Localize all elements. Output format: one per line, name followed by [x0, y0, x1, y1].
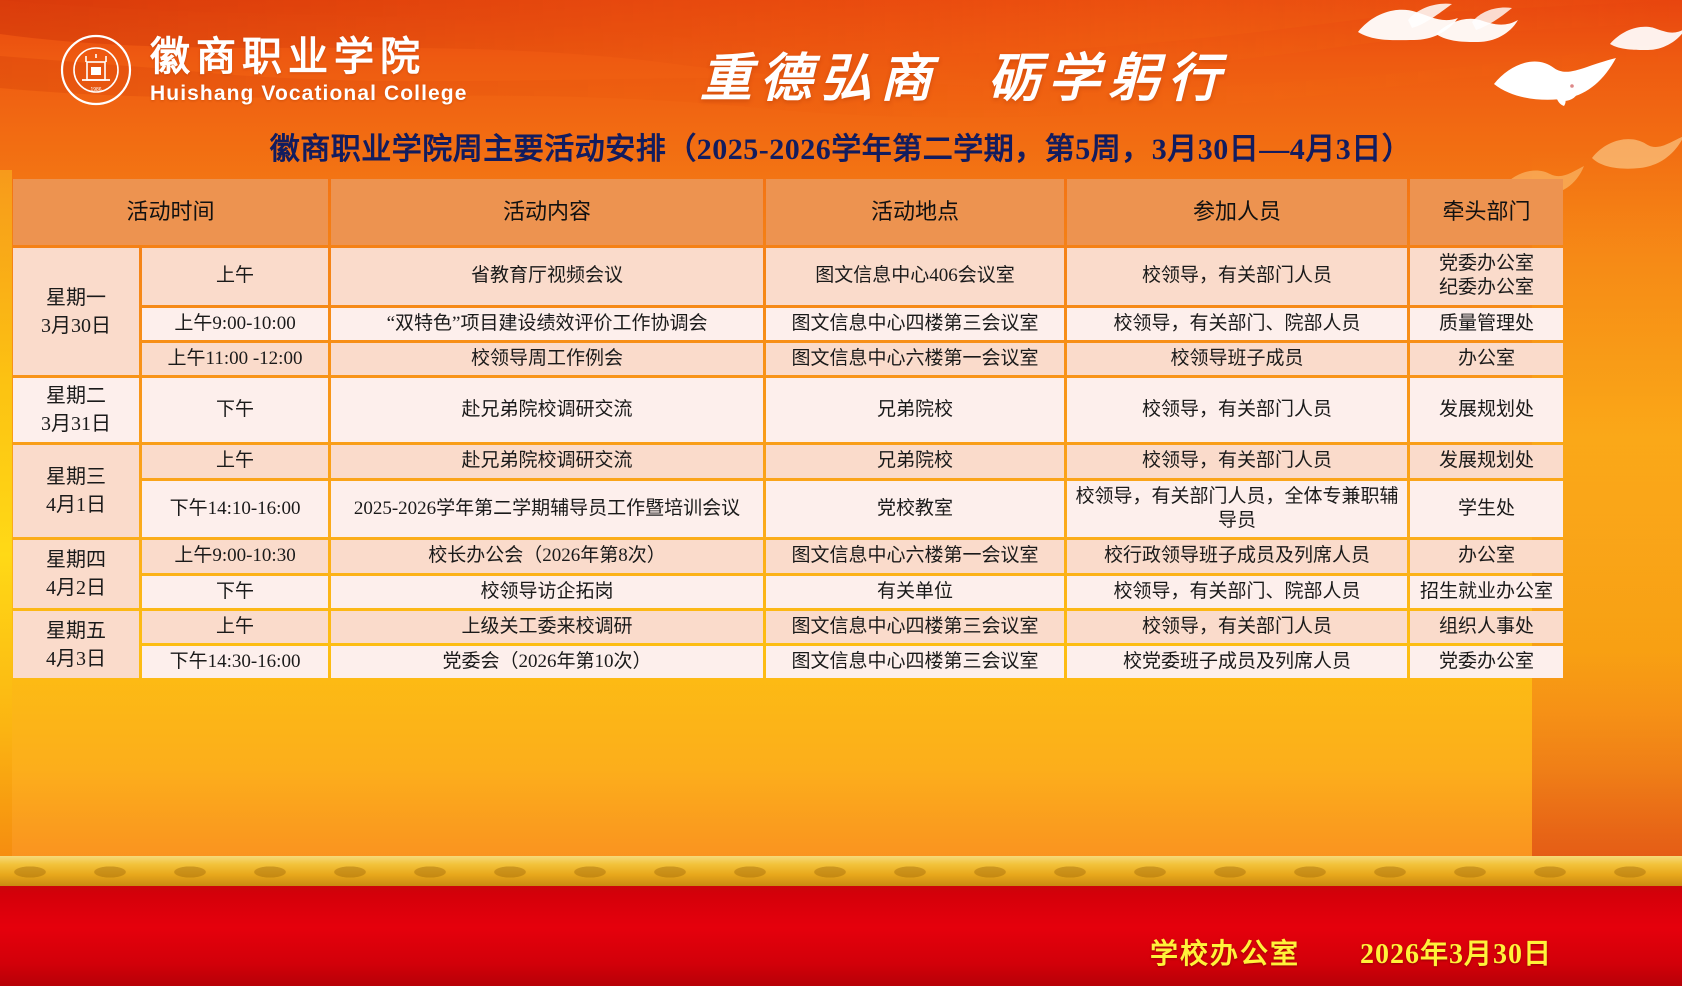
- people-cell: 校领导班子成员: [1067, 343, 1407, 375]
- time-cell: 上午: [142, 445, 328, 477]
- school-logo: 1986 徽商职业学院 Huishang Vocational College: [60, 34, 468, 106]
- day-date: 3月31日: [19, 410, 133, 438]
- time-cell: 下午14:10-16:00: [142, 481, 328, 538]
- time-cell: 下午14:30-16:00: [142, 646, 328, 678]
- people-cell: 校行政领导班子成员及列席人员: [1067, 540, 1407, 572]
- page-footer: 学校办公室 2026年3月30日: [0, 856, 1682, 986]
- place-cell: 图文信息中心四楼第三会议室: [766, 308, 1064, 340]
- place-cell: 兄弟院校: [766, 445, 1064, 477]
- table-header-row: 活动时间 活动内容 活动地点 参加人员 牵头部门: [13, 179, 1563, 245]
- slogan-part-1: 重德弘商: [700, 51, 940, 108]
- people-cell: 校领导，有关部门人员，全体专兼职辅导员: [1067, 481, 1407, 538]
- schedule-table-body: 星期一3月30日上午省教育厅视频会议图文信息中心406会议室校领导，有关部门人员…: [13, 248, 1563, 678]
- content-cell: 省教育厅视频会议: [331, 248, 763, 305]
- table-row: 上午11:00 -12:00校领导周工作例会图文信息中心六楼第一会议室校领导班子…: [13, 343, 1563, 375]
- place-cell: 有关单位: [766, 576, 1064, 608]
- school-seal-icon: 1986: [60, 34, 132, 106]
- school-name-en: Huishang Vocational College: [150, 83, 468, 104]
- school-name-cn: 徽商职业学院: [150, 37, 468, 77]
- content-cell: 赴兄弟院校调研交流: [331, 378, 763, 442]
- content-cell: 校长办公会（2026年第8次）: [331, 540, 763, 572]
- column-header-dept: 牵头部门: [1410, 179, 1563, 245]
- content-cell: 党委会（2026年第10次）: [331, 646, 763, 678]
- dept-cell: 发展规划处: [1410, 445, 1563, 477]
- table-row: 下午校领导访企拓岗有关单位校领导，有关部门、院部人员招生就业办公室: [13, 576, 1563, 608]
- dept-cell: 发展规划处: [1410, 378, 1563, 442]
- page-title: 徽商职业学院周主要活动安排（2025-2026学年第二学期，第5周，3月30日—…: [0, 122, 1682, 170]
- content-cell: 校领导周工作例会: [331, 343, 763, 375]
- page-header: 1986 徽商职业学院 Huishang Vocational College …: [0, 0, 1682, 120]
- people-cell: 校领导，有关部门人员: [1067, 445, 1407, 477]
- people-cell: 校领导，有关部门人员: [1067, 378, 1407, 442]
- time-cell: 上午: [142, 248, 328, 305]
- day-date: 4月2日: [19, 574, 133, 602]
- table-row: 下午14:30-16:00党委会（2026年第10次）图文信息中心四楼第三会议室…: [13, 646, 1563, 678]
- school-slogan: 重德弘商砺学躬行: [700, 36, 1228, 111]
- schedule-table-container: 活动时间 活动内容 活动地点 参加人员 牵头部门 星期一3月30日上午省教育厅视…: [10, 176, 1545, 681]
- day-date: 3月30日: [19, 312, 133, 340]
- time-cell: 上午11:00 -12:00: [142, 343, 328, 375]
- day-name: 星期五: [19, 617, 133, 645]
- place-cell: 图文信息中心406会议室: [766, 248, 1064, 305]
- place-cell: 兄弟院校: [766, 378, 1064, 442]
- day-name: 星期一: [19, 284, 133, 312]
- svg-text:1986: 1986: [90, 87, 101, 93]
- table-row: 星期三4月1日上午赴兄弟院校调研交流兄弟院校校领导，有关部门人员发展规划处: [13, 445, 1563, 477]
- place-cell: 图文信息中心六楼第一会议室: [766, 540, 1064, 572]
- dept-cell: 党委办公室: [1410, 646, 1563, 678]
- day-cell: 星期五4月3日: [13, 611, 139, 679]
- day-cell: 星期一3月30日: [13, 248, 139, 375]
- day-cell: 星期三4月1日: [13, 445, 139, 537]
- footer-gold-ornament: [0, 856, 1682, 886]
- table-row: 下午14:10-16:002025-2026学年第二学期辅导员工作暨培训会议党校…: [13, 481, 1563, 538]
- dept-cell: 招生就业办公室: [1410, 576, 1563, 608]
- dept-cell: 质量管理处: [1410, 308, 1563, 340]
- day-cell: 星期二3月31日: [13, 378, 139, 442]
- content-cell: 校领导访企拓岗: [331, 576, 763, 608]
- dept-cell: 学生处: [1410, 481, 1563, 538]
- content-cell: 上级关工委来校调研: [331, 611, 763, 643]
- day-date: 4月1日: [19, 491, 133, 519]
- people-cell: 校领导，有关部门、院部人员: [1067, 576, 1407, 608]
- place-cell: 图文信息中心四楼第三会议室: [766, 646, 1064, 678]
- place-cell: 图文信息中心六楼第一会议室: [766, 343, 1064, 375]
- day-cell: 星期四4月2日: [13, 540, 139, 608]
- time-cell: 下午: [142, 378, 328, 442]
- day-name: 星期三: [19, 463, 133, 491]
- table-row: 星期一3月30日上午省教育厅视频会议图文信息中心406会议室校领导，有关部门人员…: [13, 248, 1563, 305]
- dept-cell: 党委办公室纪委办公室: [1410, 248, 1563, 305]
- people-cell: 校领导，有关部门人员: [1067, 611, 1407, 643]
- dept-line: 党委办公室: [1416, 252, 1557, 276]
- time-cell: 上午: [142, 611, 328, 643]
- table-row: 星期四4月2日上午9:00-10:30校长办公会（2026年第8次）图文信息中心…: [13, 540, 1563, 572]
- dept-cell: 办公室: [1410, 343, 1563, 375]
- people-cell: 校领导，有关部门人员: [1067, 248, 1407, 305]
- table-row: 星期二3月31日下午赴兄弟院校调研交流兄弟院校校领导，有关部门人员发展规划处: [13, 378, 1563, 442]
- column-header-time: 活动时间: [13, 179, 328, 245]
- people-cell: 校领导，有关部门、院部人员: [1067, 308, 1407, 340]
- dept-cell: 办公室: [1410, 540, 1563, 572]
- place-cell: 党校教室: [766, 481, 1064, 538]
- dept-cell: 组织人事处: [1410, 611, 1563, 643]
- place-cell: 图文信息中心四楼第三会议室: [766, 611, 1064, 643]
- day-name: 星期四: [19, 546, 133, 574]
- schedule-table: 活动时间 活动内容 活动地点 参加人员 牵头部门 星期一3月30日上午省教育厅视…: [10, 176, 1566, 681]
- time-cell: 上午9:00-10:30: [142, 540, 328, 572]
- dept-line: 纪委办公室: [1416, 276, 1557, 300]
- column-header-place: 活动地点: [766, 179, 1064, 245]
- column-header-content: 活动内容: [331, 179, 763, 245]
- content-cell: “双特色”项目建设绩效评价工作协调会: [331, 308, 763, 340]
- content-cell: 2025-2026学年第二学期辅导员工作暨培训会议: [331, 481, 763, 538]
- table-row: 星期五4月3日上午上级关工委来校调研图文信息中心四楼第三会议室校领导，有关部门人…: [13, 611, 1563, 643]
- table-row: 上午9:00-10:00“双特色”项目建设绩效评价工作协调会图文信息中心四楼第三…: [13, 308, 1563, 340]
- footer-office-label: 学校办公室: [1150, 932, 1300, 972]
- time-cell: 下午: [142, 576, 328, 608]
- day-name: 星期二: [19, 382, 133, 410]
- people-cell: 校党委班子成员及列席人员: [1067, 646, 1407, 678]
- column-header-people: 参加人员: [1067, 179, 1407, 245]
- content-cell: 赴兄弟院校调研交流: [331, 445, 763, 477]
- footer-date-label: 2026年3月30日: [1360, 932, 1552, 972]
- day-date: 4月3日: [19, 645, 133, 673]
- slogan-part-2: 砺学躬行: [988, 51, 1228, 108]
- time-cell: 上午9:00-10:00: [142, 308, 328, 340]
